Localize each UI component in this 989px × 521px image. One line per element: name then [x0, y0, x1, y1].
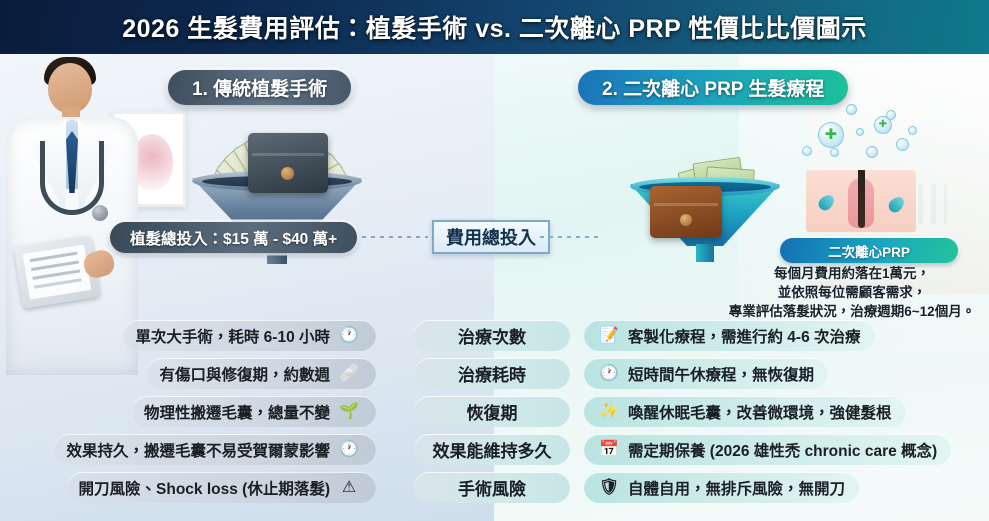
- cost-badge-traditional-label: 植髮總投入：$15 萬 - $40 萬+: [130, 227, 337, 249]
- plus-symbol-icon: ✚: [879, 120, 887, 130]
- bandage-icon: 🩹: [338, 363, 360, 385]
- comparison-cell-prp[interactable]: 📅需定期保養 (2026 雄性禿 chronic care 概念): [584, 434, 951, 465]
- cost-center-text: 費用總投入: [446, 224, 536, 250]
- hair-follicle-sparkle-icon: ✨: [598, 401, 620, 423]
- section-header-prp-label: 2. 二次離心 PRP 生髮療程: [602, 74, 824, 101]
- comparison-cell-traditional-text: 開刀風險、Shock loss (休止期落髮): [79, 477, 330, 499]
- comparison-criterion: 效果能維持多久: [414, 434, 570, 465]
- growth-factor-bubble-icon: [866, 146, 878, 158]
- comparison-cell-prp[interactable]: 🛡自體自用，無排斥風險，無開刀: [584, 472, 859, 503]
- hair-follicle-icon: 🌱: [338, 401, 360, 423]
- serum-drop-icon: [816, 192, 837, 213]
- comparison-cell-prp-text: 需定期保養 (2026 雄性禿 chronic care 概念): [628, 439, 937, 461]
- comparison-cell-traditional[interactable]: 單次大手術，耗時 6-10 小時🕐: [123, 320, 376, 351]
- comparison-row: 單次大手術，耗時 6-10 小時🕐治療次數📝客製化療程，需進行約 4-6 次治療: [0, 320, 989, 358]
- comparison-criterion: 恢復期: [414, 396, 570, 427]
- comparison-cell-traditional-text: 有傷口與修復期，約數週: [159, 363, 330, 385]
- comparison-criterion: 治療次數: [414, 320, 570, 351]
- hair-follicle-diagram-icon: [806, 170, 916, 232]
- clock-icon: 🕐: [598, 363, 620, 385]
- comparison-row: 物理性搬遷毛囊，總量不變🌱恢復期✨喚醒休眠毛囊，改善微環境，強健髮根: [0, 396, 989, 434]
- section-header-traditional-label: 1. 傳統植髮手術: [192, 74, 327, 101]
- growth-factor-bubble-icon: [908, 126, 917, 135]
- comparison-criterion-text: 手術風險: [458, 475, 526, 500]
- comparison-cell-prp[interactable]: ✨喚醒休眠毛囊，改善微環境，強健髮根: [584, 396, 906, 427]
- comparison-cell-prp-text: 短時間午休療程，無恢復期: [628, 363, 814, 385]
- prp-note-line-3: 專業評估落髮狀況，治療週期6~12個月。: [716, 302, 988, 321]
- clock-icon: 🕐: [338, 439, 360, 461]
- prp-badge-label: 二次離心PRP: [828, 241, 910, 261]
- warning-icon: ⚠: [338, 477, 360, 499]
- comparison-criterion: 手術風險: [414, 472, 570, 503]
- comparison-cell-traditional[interactable]: 開刀風險、Shock loss (休止期落髮)⚠: [67, 472, 376, 503]
- comparison-row: 效果持久，搬遷毛囊不易受賀爾蒙影響🕐效果能維持多久📅需定期保養 (2026 雄性…: [0, 434, 989, 472]
- prp-note-line-2: 並依照每位需顧客需求，: [716, 283, 988, 302]
- comparison-criterion-text: 治療耗時: [458, 361, 526, 386]
- prp-badge[interactable]: 二次離心PRP: [780, 238, 958, 263]
- comparison-criterion-text: 效果能維持多久: [433, 437, 552, 462]
- comparison-criterion: 治療耗時: [414, 358, 570, 389]
- funnel-stem: [696, 244, 714, 262]
- comparison-row: 有傷口與修復期，約數週🩹治療耗時🕐短時間午休療程，無恢復期: [0, 358, 989, 396]
- comparison-cell-prp[interactable]: 🕐短時間午休療程，無恢復期: [584, 358, 828, 389]
- stethoscope-icon: [40, 141, 104, 215]
- page-title: 2026 生髮費用評估：植髮手術 vs. 二次離心 PRP 性價比比價圖示: [122, 9, 867, 45]
- section-header-prp[interactable]: 2. 二次離心 PRP 生髮療程: [578, 70, 848, 105]
- hair-shaft: [858, 170, 865, 228]
- clipboard-pencil-icon: 📝: [598, 325, 620, 347]
- doctor-head: [48, 63, 92, 113]
- comparison-cell-traditional[interactable]: 物理性搬遷毛囊，總量不變🌱: [132, 396, 376, 427]
- plus-symbol-icon: ✚: [825, 128, 837, 143]
- growth-factor-bubble-icon: [830, 148, 839, 157]
- wallet-clasp-icon: [281, 167, 294, 180]
- comparison-table: 單次大手術，耗時 6-10 小時🕐治療次數📝客製化療程，需進行約 4-6 次治療…: [0, 320, 989, 521]
- comparison-criterion-text: 治療次數: [458, 323, 526, 348]
- comparison-cell-traditional[interactable]: 效果持久，搬遷毛囊不易受賀爾蒙影響🕐: [54, 434, 376, 465]
- comparison-cell-prp[interactable]: 📝客製化療程，需進行約 4-6 次治療: [584, 320, 875, 351]
- connector-dots-right: [540, 236, 602, 238]
- stethoscope-bell-icon: [92, 205, 108, 221]
- comparison-row: 開刀風險、Shock loss (休止期落髮)⚠手術風險🛡自體自用，無排斥風險，…: [0, 472, 989, 510]
- comparison-cell-traditional-text: 單次大手術，耗時 6-10 小時: [135, 325, 330, 347]
- black-wallet-cash-icon: [248, 133, 328, 193]
- comparison-cell-prp-text: 自體自用，無排斥風險，無開刀: [628, 477, 845, 499]
- cost-center-label: 費用總投入: [432, 220, 550, 254]
- calendar-clock-icon: 📅: [598, 439, 620, 461]
- comparison-cell-prp-text: 喚醒休眠毛囊，改善微環境，強健髮根: [628, 401, 892, 423]
- comparison-cell-prp-text: 客製化療程，需進行約 4-6 次治療: [628, 325, 861, 347]
- growth-factor-bubble-icon: [856, 128, 864, 136]
- growth-factor-bubble-icon: [886, 110, 896, 120]
- cost-badge-traditional[interactable]: 植髮總投入：$15 萬 - $40 萬+: [110, 222, 357, 253]
- wallet-clasp-icon: [680, 214, 692, 226]
- comparison-cell-traditional-text: 物理性搬遷毛囊，總量不變: [144, 401, 330, 423]
- connector-dots-left: [362, 236, 428, 238]
- growth-factor-bubble-icon: [896, 138, 909, 151]
- clock-icon: 🕐: [338, 325, 360, 347]
- comparison-criterion-text: 恢復期: [467, 399, 518, 424]
- shield-check-icon: 🛡: [598, 477, 620, 499]
- prp-cost-note: 每個月費用約落在1萬元， 並依照每位需顧客需求， 專業評估落髮狀況，治療週期6~…: [716, 264, 988, 321]
- section-header-traditional[interactable]: 1. 傳統植髮手術: [168, 70, 351, 105]
- serum-drop-icon: [886, 194, 907, 215]
- prp-note-line-1: 每個月費用約落在1萬元，: [716, 264, 988, 283]
- comparison-cell-traditional-text: 效果持久，搬遷毛囊不易受賀爾蒙影響: [66, 439, 330, 461]
- comparison-cell-traditional[interactable]: 有傷口與修復期，約數週🩹: [147, 358, 376, 389]
- growth-factor-bubble-icon: [802, 146, 812, 156]
- infographic-canvas: 2026 生髮費用評估：植髮手術 vs. 二次離心 PRP 性價比比價圖示 1.…: [0, 0, 989, 521]
- growth-factor-bubble-icon: [846, 104, 857, 115]
- brown-wallet-cash-icon: [650, 186, 722, 238]
